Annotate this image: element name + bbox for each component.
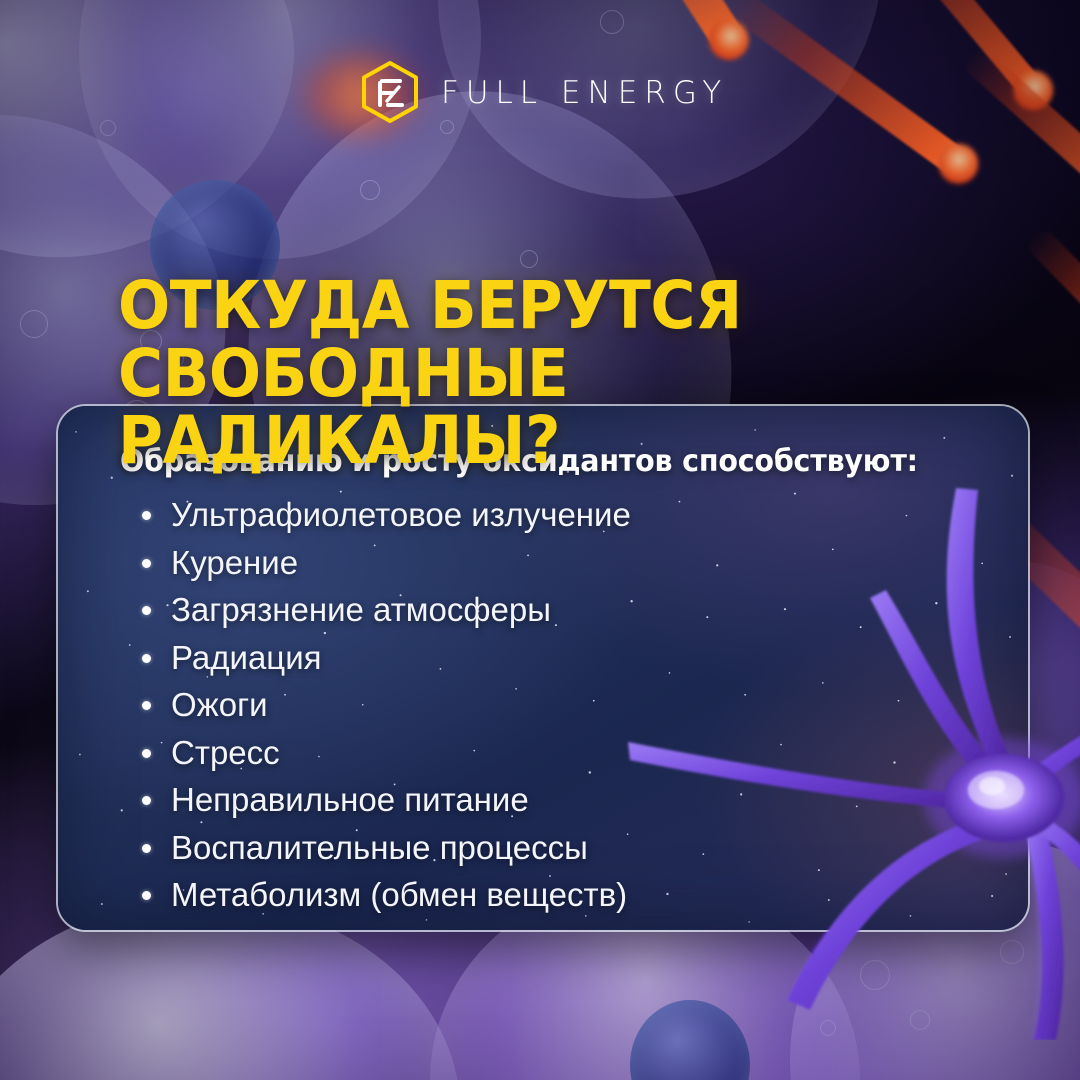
bullet-dot-icon [142, 511, 151, 520]
list-item: Курение [142, 541, 988, 585]
list-item: Воспалительные процессы [142, 826, 988, 870]
bullet-dot-icon [142, 796, 151, 805]
list-item-label: Радиация [171, 636, 322, 680]
list-item-label: Воспалительные процессы [171, 826, 588, 870]
bullet-dot-icon [142, 654, 151, 663]
poster-canvas: FULL ENERGY ОТКУДА БЕРУТСЯ СВОБОДНЫЕ РАД… [0, 0, 1080, 1080]
list-item-label: Загрязнение атмосферы [171, 588, 551, 632]
bullet-dot-icon [142, 606, 151, 615]
brand-logo[interactable]: FULL ENERGY [355, 58, 728, 128]
brand-name: FULL ENERGY [441, 75, 728, 111]
list-item-label: Метаболизм (обмен веществ) [171, 873, 627, 917]
bullet-dot-icon [142, 844, 151, 853]
list-item-label: Курение [171, 541, 298, 585]
list-item: Загрязнение атмосферы [142, 588, 988, 632]
card-content: Образованию и росту оксидантов способств… [58, 406, 1028, 930]
bullet-dot-icon [142, 559, 151, 568]
list-item-label: Стресс [171, 731, 280, 775]
bullet-dot-icon [142, 701, 151, 710]
info-card: Образованию и росту оксидантов способств… [56, 404, 1030, 932]
causes-list: Ультрафиолетовое излучение Курение Загря… [116, 493, 988, 917]
full-energy-hexagon-logo-icon [355, 58, 425, 128]
page-title: ОТКУДА БЕРУТСЯ СВОБОДНЫЕ РАДИКАЛЫ? [118, 272, 1013, 474]
bullet-dot-icon [142, 891, 151, 900]
bullet-dot-icon [142, 749, 151, 758]
list-item-label: Ожоги [171, 683, 268, 727]
list-item: Неправильное питание [142, 778, 988, 822]
list-item: Ожоги [142, 683, 988, 727]
list-item-label: Неправильное питание [171, 778, 529, 822]
list-item-label: Ультрафиолетовое излучение [171, 493, 631, 537]
list-item: Стресс [142, 731, 988, 775]
list-item: Радиация [142, 636, 988, 680]
list-item: Метаболизм (обмен веществ) [142, 873, 988, 917]
list-item: Ультрафиолетовое излучение [142, 493, 988, 537]
